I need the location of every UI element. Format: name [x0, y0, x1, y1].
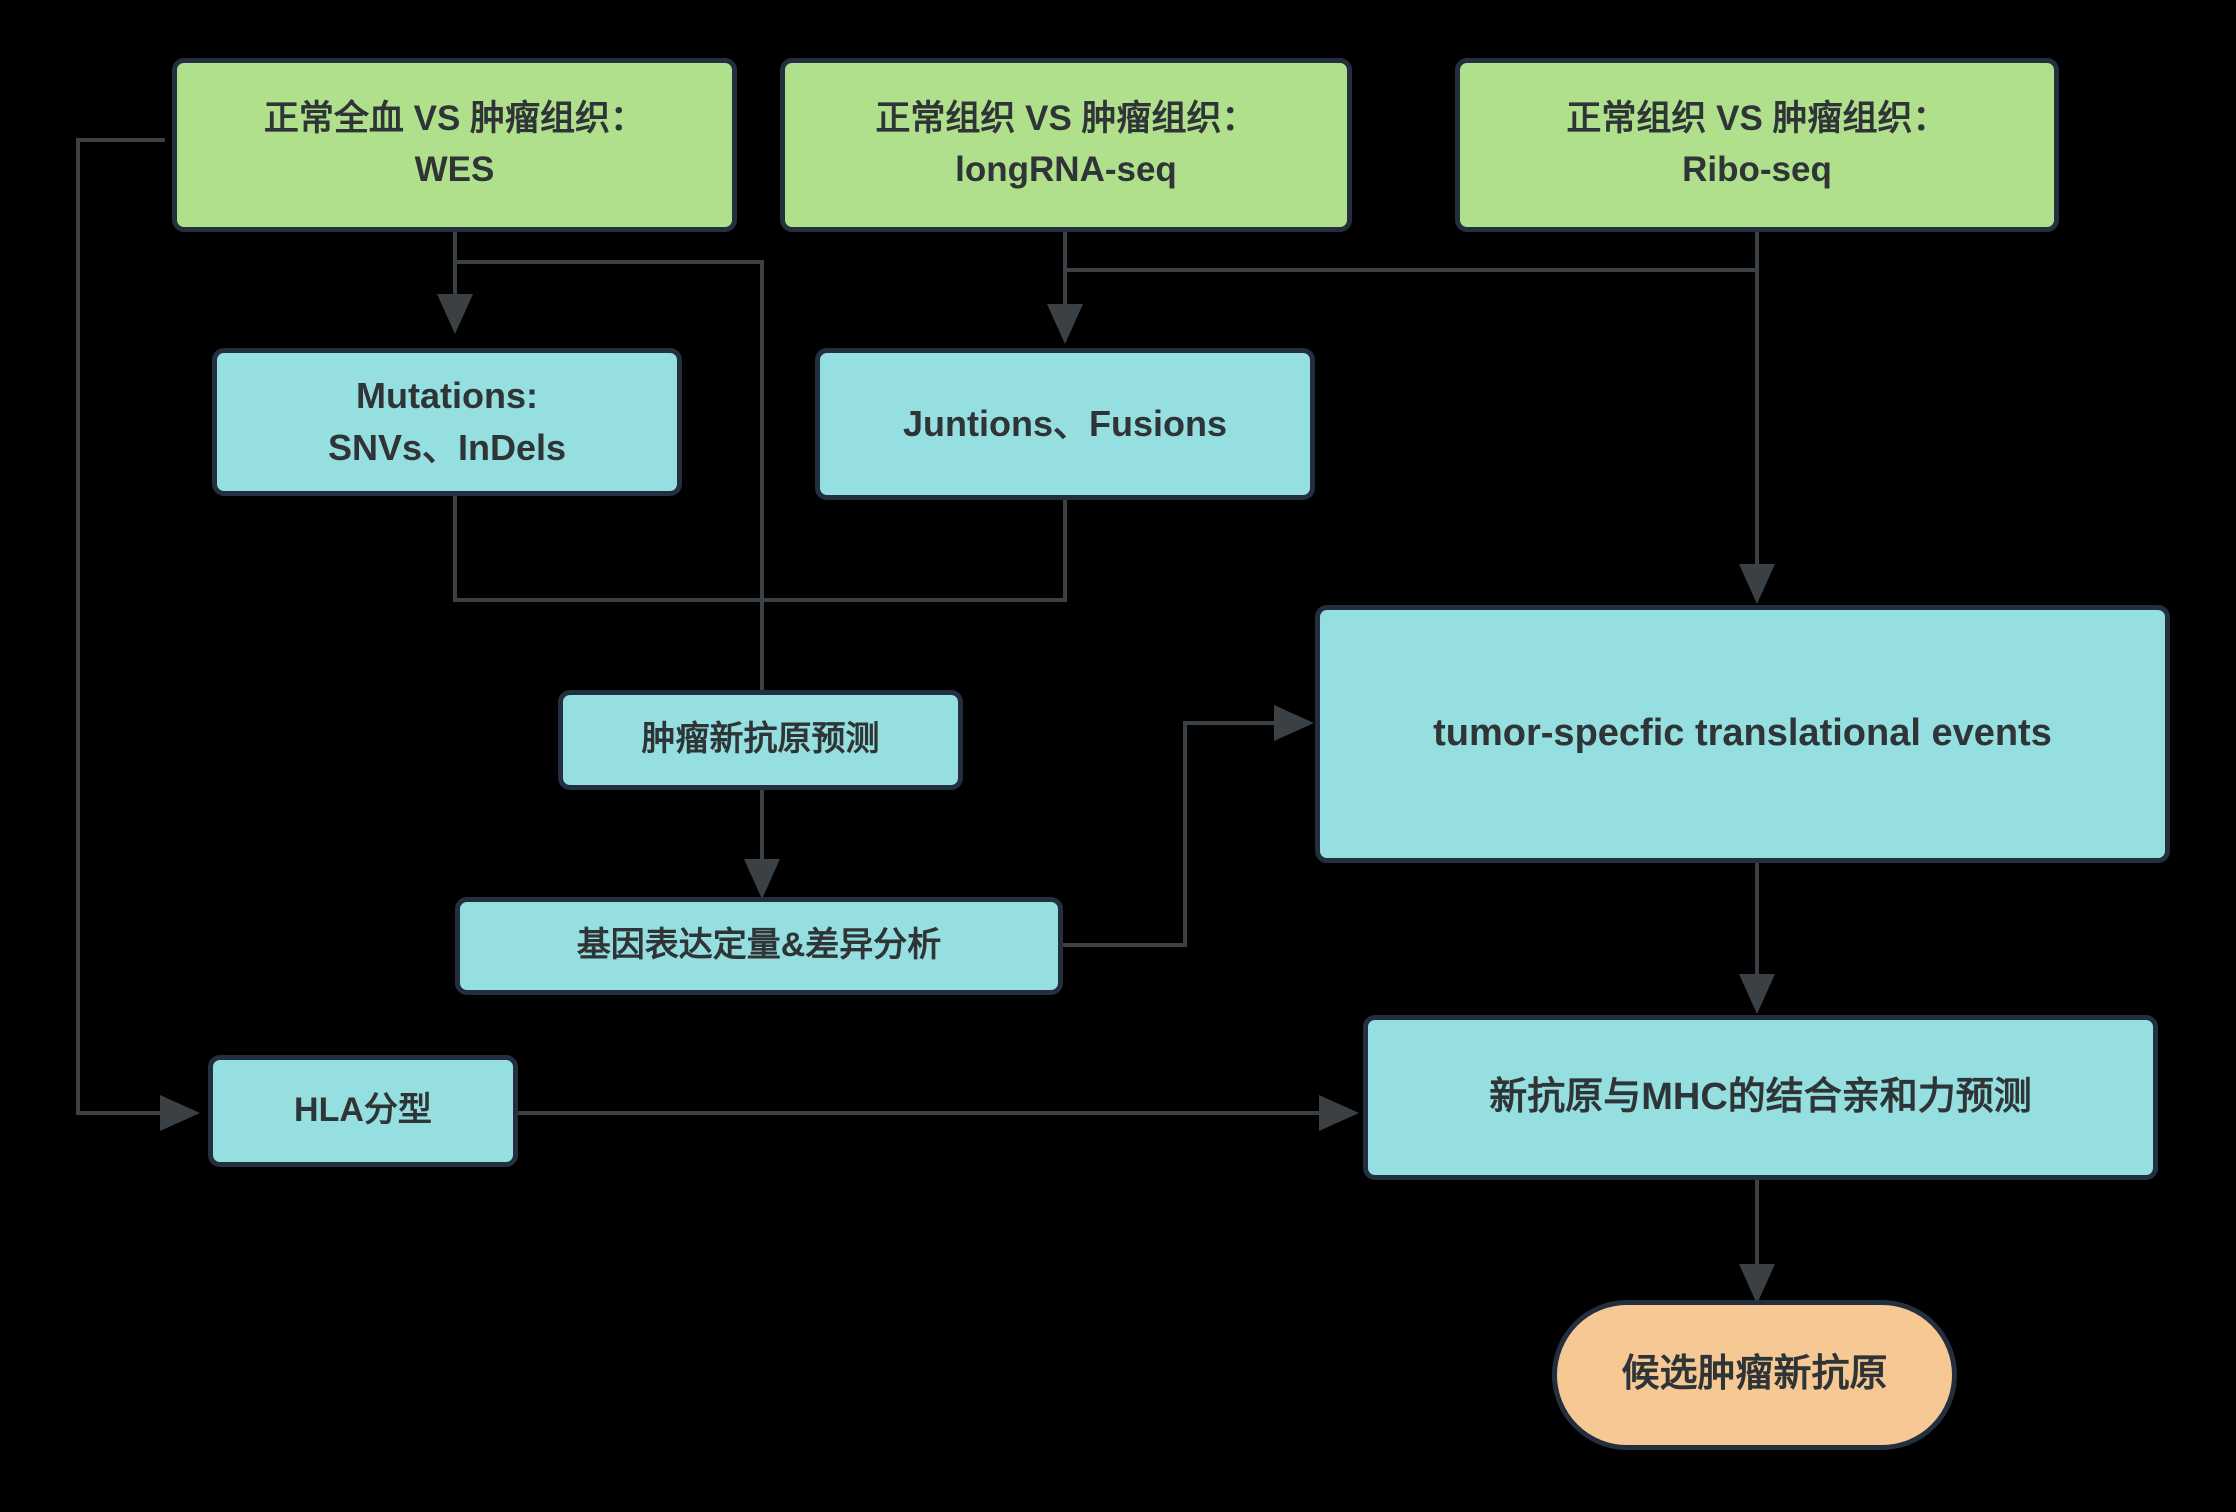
- node-expression-label: 基因表达定量&差异分析: [563, 921, 956, 970]
- node-neoantigen[interactable]: 肿瘤新抗原预测: [558, 690, 963, 790]
- node-candidate-label: 候选肿瘤新抗原: [1607, 1347, 1901, 1402]
- node-junctions[interactable]: Juntions、Fusions: [815, 348, 1315, 500]
- node-longrna[interactable]: 正常组织 VS 肿瘤组织： longRNA-seq: [780, 58, 1352, 232]
- edge-mutations-merge-leg: [455, 495, 762, 600]
- node-tumorspec[interactable]: tumor-specfic translational events: [1315, 605, 2170, 863]
- node-riboseq-label: 正常组织 VS 肿瘤组织： Ribo-seq: [1552, 94, 1961, 196]
- node-neoantigen-label: 肿瘤新抗原预测: [628, 715, 894, 764]
- node-expression[interactable]: 基因表达定量&差异分析: [455, 897, 1063, 995]
- node-longrna-label: 正常组织 VS 肿瘤组织： longRNA-seq: [861, 94, 1270, 196]
- node-wes[interactable]: 正常全血 VS 肿瘤组织： WES: [172, 58, 737, 232]
- node-junctions-label: Juntions、Fusions: [889, 398, 1241, 450]
- node-riboseq[interactable]: 正常组织 VS 肿瘤组织： Ribo-seq: [1455, 58, 2059, 232]
- node-candidate[interactable]: 候选肿瘤新抗原: [1552, 1300, 1957, 1450]
- edge-junctions-merge-leg: [762, 500, 1065, 600]
- node-mhc-label: 新抗原与MHC的结合亲和力预测: [1475, 1070, 2046, 1125]
- edge-wes-hla: [78, 140, 196, 1113]
- node-hla[interactable]: HLA分型: [208, 1055, 518, 1167]
- node-tumorspec-label: tumor-specfic translational events: [1419, 706, 2066, 761]
- node-hla-label: HLA分型: [280, 1086, 446, 1135]
- edge-expression-tumorspec: [1063, 723, 1310, 945]
- flowchart-canvas: 正常全血 VS 肿瘤组织： WES 正常组织 VS 肿瘤组织： longRNA-…: [0, 0, 2236, 1512]
- node-wes-label: 正常全血 VS 肿瘤组织： WES: [250, 94, 659, 196]
- node-mhc[interactable]: 新抗原与MHC的结合亲和力预测: [1363, 1015, 2158, 1180]
- node-mutations[interactable]: Mutations: SNVs、InDels: [212, 348, 682, 496]
- node-mutations-label: Mutations: SNVs、InDels: [314, 370, 580, 474]
